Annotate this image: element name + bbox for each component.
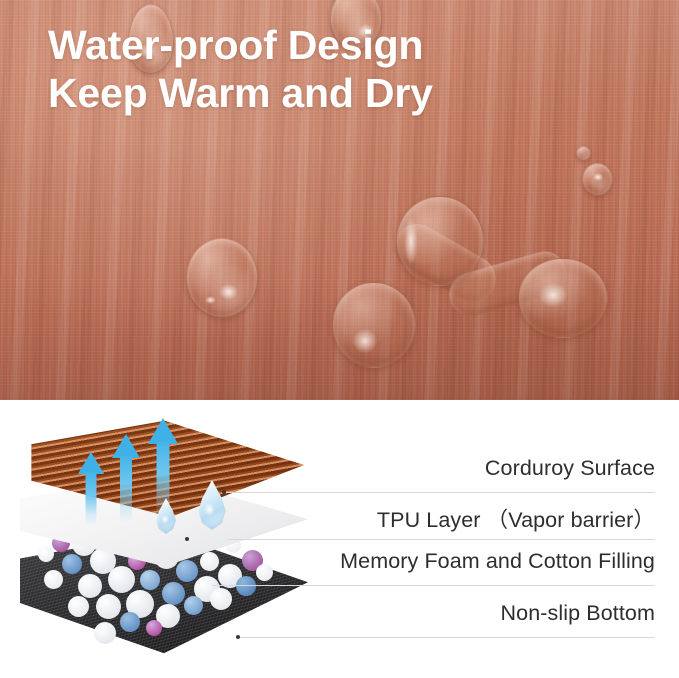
fill-ball xyxy=(96,594,121,619)
droplet-specular xyxy=(161,515,169,524)
breathability-arrow-2 xyxy=(112,434,140,522)
fill-ball xyxy=(108,566,135,593)
arrow-head-icon xyxy=(148,418,178,444)
fill-ball xyxy=(44,570,63,589)
fill-ball xyxy=(120,612,140,632)
repelled-droplet-large xyxy=(194,480,230,530)
fill-ball xyxy=(146,620,162,636)
leader-dot-corduroy xyxy=(222,490,226,494)
layer-label-bottom: Non-slip Bottom xyxy=(501,601,655,626)
fill-ball xyxy=(176,560,198,582)
fill-ball xyxy=(162,582,185,605)
arrow-stem xyxy=(86,472,97,526)
layer-label-corduroy: Corduroy Surface xyxy=(485,456,655,481)
leader-line-filling xyxy=(212,585,655,586)
waterproof-fabric-photo: Water-proof Design Keep Warm and Dry xyxy=(0,0,679,400)
arrow-stem xyxy=(120,456,132,522)
leader-dot-tpu xyxy=(185,537,189,541)
fill-ball xyxy=(200,552,219,571)
repelled-droplet-small xyxy=(153,498,179,534)
layer-label-tpu: TPU Layer （Vapor barrier） xyxy=(377,503,655,534)
fill-ball xyxy=(140,570,160,590)
fill-ball xyxy=(68,596,89,617)
arrow-head-icon xyxy=(112,434,140,458)
fill-ball xyxy=(256,564,273,581)
leader-line-tpu xyxy=(228,539,655,540)
fill-ball xyxy=(236,576,256,596)
breathability-arrow-1 xyxy=(78,452,104,526)
leader-line-corduroy xyxy=(225,492,655,493)
fill-ball xyxy=(78,574,102,598)
layer-label-filling: Memory Foam and Cotton Filling xyxy=(340,549,655,574)
fill-ball xyxy=(38,546,54,562)
page-title: Water-proof Design Keep Warm and Dry xyxy=(48,22,433,118)
leader-dot-bottom xyxy=(236,635,240,639)
fill-ball xyxy=(210,588,232,610)
infographic-page: Water-proof Design Keep Warm and Dry xyxy=(0,0,679,678)
fill-ball xyxy=(94,622,116,644)
leader-line-bottom xyxy=(240,637,655,638)
fill-ball xyxy=(62,554,82,574)
leader-dot-filling xyxy=(186,583,190,587)
droplet-specular xyxy=(204,503,215,516)
fill-ball xyxy=(184,596,203,615)
layer-construction-diagram: Corduroy Surface TPU Layer （Vapor barrie… xyxy=(0,400,679,678)
arrow-head-icon xyxy=(78,452,104,474)
